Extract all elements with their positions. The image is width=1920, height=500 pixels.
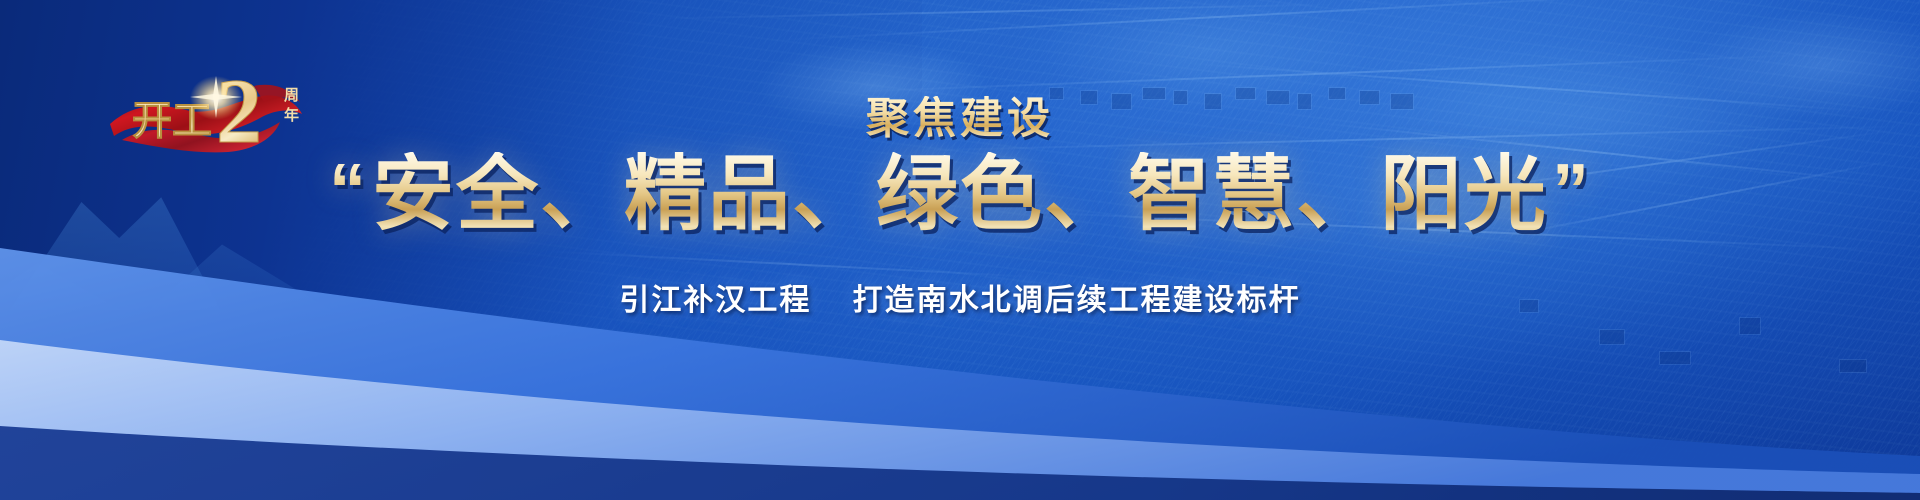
site-structure-block — [1740, 318, 1760, 334]
quote-open-mark: “ — [329, 153, 368, 227]
site-structure-block — [1840, 360, 1866, 372]
banner-text-block: 聚焦建设 “ 安全、精品、绿色、智慧、阳光 ” 引江补汉工程 打造南水北调后续工… — [0, 96, 1920, 319]
site-structure-block — [1660, 352, 1690, 364]
banner-subtitle: 引江补汉工程 打造南水北调后续工程建设标杆 — [619, 275, 1300, 319]
banner-headline-text: 安全、精品、绿色、智慧、阳光 — [372, 152, 1548, 239]
quote-close-mark: ” — [1552, 153, 1591, 227]
banner-eyebrow: 聚焦建设 — [866, 96, 1054, 144]
campaign-banner: 开工 2 周 年 聚焦建设 “ 安全、精品、绿色、智慧、阳光 ” 引江补汉工程 … — [0, 0, 1920, 500]
banner-headline: “ 安全、精品、绿色、智慧、阳光 ” — [329, 152, 1591, 239]
site-structure-block — [1600, 330, 1624, 344]
